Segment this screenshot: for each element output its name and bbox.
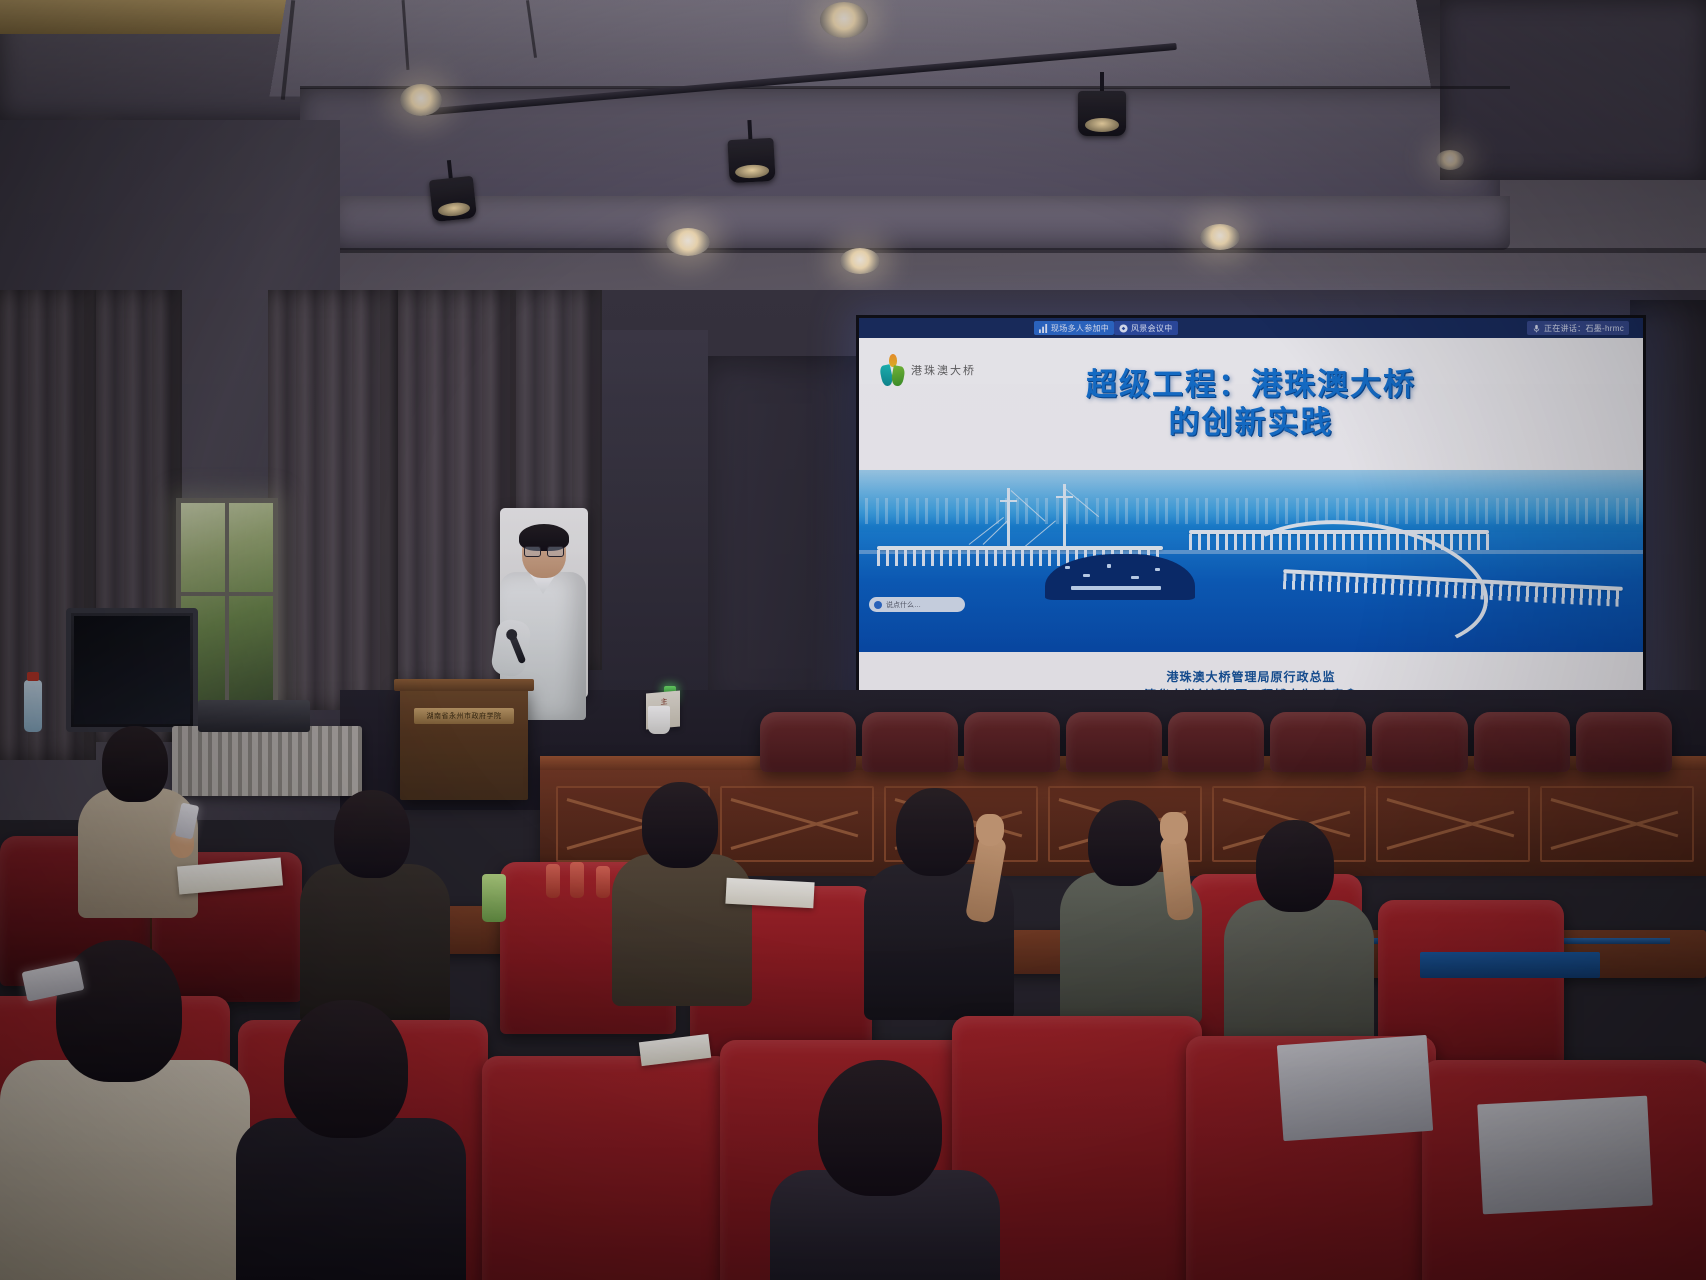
- speaking-label: 正在讲话：石墨-hrmc: [1544, 323, 1624, 334]
- distant-skyline: [859, 498, 1643, 524]
- attendee-head: [896, 788, 974, 876]
- downlight-7: [1436, 150, 1464, 170]
- microphone-icon: [1532, 324, 1541, 333]
- downlight-1: [820, 2, 868, 38]
- caption-line-1: 港珠澳大桥管理局原行政总监: [859, 669, 1643, 686]
- signal-bars-icon: [1039, 324, 1048, 333]
- seat-back-3: [964, 712, 1060, 772]
- attendee-left-2: [300, 790, 450, 1020]
- slide-title: 超级工程：港珠澳大桥 的创新实践: [859, 366, 1643, 442]
- share-screen-icon: [1119, 324, 1128, 333]
- curtain-left-3: [268, 290, 398, 710]
- lecture-hall-photo: 现场多人参加中 风景会议中 正在讲话：石墨-hrmc: [0, 0, 1706, 1280]
- seat-back-7: [1372, 712, 1468, 772]
- attendee-head: [818, 1060, 942, 1196]
- bridge-pylon-2: [1063, 484, 1066, 548]
- attendee-laptop-2: [1477, 1096, 1653, 1215]
- downlight-4: [666, 228, 710, 256]
- desk-green-object: [482, 874, 506, 922]
- chat-placeholder: 说点什么…: [886, 600, 921, 610]
- slide-title-line-1: 超级工程：港珠澳大桥: [859, 366, 1643, 404]
- attendee-head: [334, 790, 410, 878]
- participants-badge[interactable]: 现场多人参加中: [1034, 321, 1114, 335]
- water-bottle: [24, 680, 42, 732]
- meeting-status-bar: 现场多人参加中 风景会议中 正在讲话：石墨-hrmc: [859, 318, 1643, 338]
- radiator: [172, 726, 362, 796]
- lectern-podium: 湖南省永州市政府学院: [400, 686, 528, 800]
- attendee-raised-hand: [1160, 812, 1188, 844]
- downlight-5: [840, 248, 880, 274]
- spotlight-3: [1078, 72, 1126, 136]
- wall-panel-behind-screen: [700, 356, 860, 716]
- desk-marker-2: [570, 862, 584, 898]
- seat-front-3: [482, 1056, 732, 1280]
- slide-title-line-2: 的创新实践: [859, 404, 1643, 442]
- sharing-badge[interactable]: 风景会议中: [1114, 321, 1178, 335]
- attendee-body: [1224, 900, 1374, 1056]
- wall-column: [588, 330, 708, 710]
- participants-label: 现场多人参加中: [1051, 323, 1109, 334]
- seat-back-4: [1066, 712, 1162, 772]
- attendee-body: [612, 854, 752, 1006]
- side-monitor: [66, 608, 198, 732]
- seat-back-9: [1576, 712, 1672, 772]
- attendee-head: [102, 726, 168, 802]
- spotlight-1: [427, 158, 477, 222]
- attendee-front-3: [770, 1060, 1000, 1280]
- ceiling-panel-right: [1440, 0, 1706, 180]
- attendee-head: [284, 1000, 408, 1138]
- downlight-6: [1200, 224, 1240, 250]
- attendee-front-2: [236, 1000, 466, 1280]
- balustrade-panel: [1540, 786, 1694, 862]
- podium-nameplate: 湖南省永州市政府学院: [414, 708, 514, 724]
- led-presentation-screen[interactable]: 现场多人参加中 风景会议中 正在讲话：石墨-hrmc: [856, 315, 1646, 739]
- desk-marker-3: [596, 866, 610, 898]
- desk-blue-pad: [1420, 952, 1600, 978]
- seat-back-1: [760, 712, 856, 772]
- attendee-body: [0, 1060, 250, 1280]
- desk-paper-center: [725, 878, 814, 909]
- attendee-head: [642, 782, 718, 868]
- attendee-head: [1256, 820, 1334, 912]
- balustrade-panel: [1376, 786, 1530, 862]
- attendee-right-ponytail: [1224, 820, 1374, 1050]
- seat-back-6: [1270, 712, 1366, 772]
- desk-marker-1: [546, 864, 560, 898]
- audio-console: [198, 700, 310, 732]
- paper-cup: [648, 706, 670, 734]
- screen-surface: 现场多人参加中 风景会议中 正在讲话：石墨-hrmc: [859, 318, 1643, 736]
- chat-avatar-icon: [874, 601, 882, 609]
- attendee-laptop: [1277, 1035, 1433, 1141]
- seat-back-2: [862, 712, 958, 772]
- downlight-2: [400, 84, 442, 116]
- attendee-raising-hand-left: [864, 788, 1014, 1014]
- spotlight-2: [726, 119, 775, 183]
- bridge-illustration: 说点什么…: [859, 470, 1643, 652]
- slide-content: 现场多人参加中 风景会议中 正在讲话：石墨-hrmc: [859, 318, 1643, 736]
- seat-back-8: [1474, 712, 1570, 772]
- attendee-body: [236, 1118, 466, 1280]
- chat-input-pill[interactable]: 说点什么…: [869, 597, 965, 612]
- speaking-badge[interactable]: 正在讲话：石墨-hrmc: [1527, 321, 1629, 335]
- ceiling-cove: [330, 196, 1510, 250]
- ceiling-seam-1: [300, 86, 1510, 89]
- attendee-raising-hand-right: [1060, 796, 1202, 1018]
- attendee-head: [1088, 800, 1164, 886]
- sharing-label: 风景会议中: [1131, 323, 1173, 334]
- speaker-glasses-icon: [524, 546, 564, 555]
- seat-back-5: [1168, 712, 1264, 772]
- bridge-pylon-1: [1007, 488, 1010, 548]
- attendee-raised-hand: [976, 814, 1004, 846]
